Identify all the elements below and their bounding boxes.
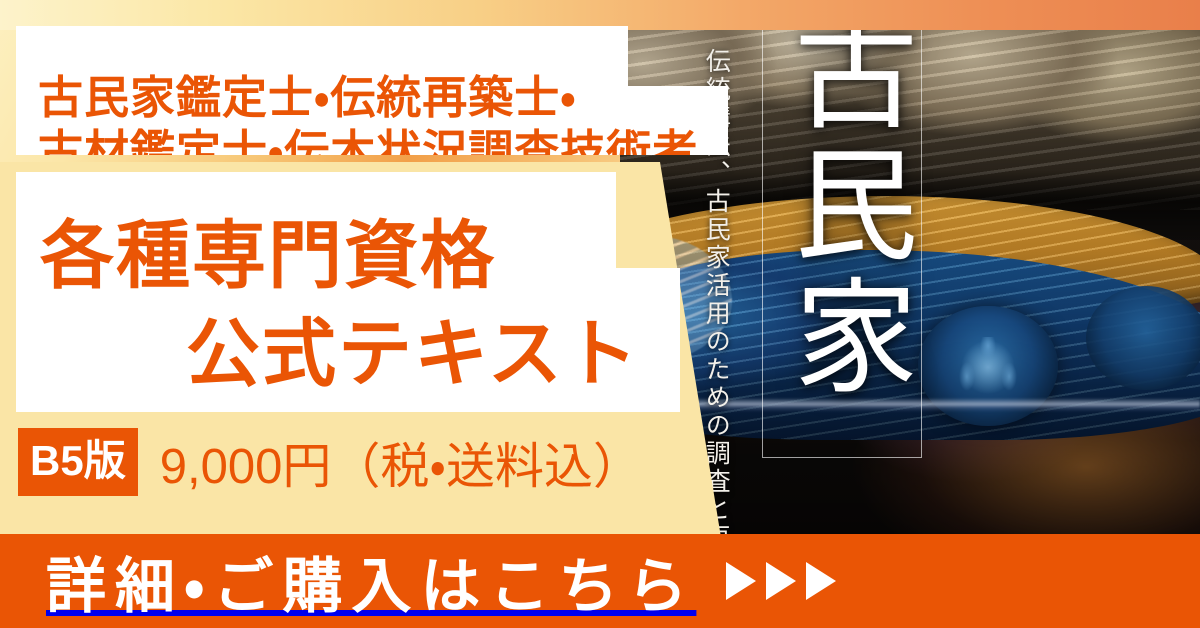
book-cover-title: 古民家 [772,8,912,438]
warm-gradient-top-strip [0,0,1200,30]
cta-label: 詳細・ご購入はこちら [46,538,696,625]
triangle-right-icon [806,562,836,600]
headline-panel: 古民家鑑定士・伝統再築士・ 古材鑑定士・伝木状況調査技術者 [16,26,728,155]
claim-line-2: 公式テキスト [186,294,640,401]
size-badge: B5版 [18,428,138,496]
triangle-right-icon [726,562,756,600]
cta-arrow-group [726,562,836,600]
triangle-right-icon [766,562,796,600]
promo-banner: 伝統構法、古民家活用のための調査と再生の 古民家 古民家鑑定士・伝統再築士・ 古… [0,0,1200,628]
price-amount: 9,000円（税・送料込） [160,427,642,498]
cta-bar[interactable]: 詳細・ご購入はこちら [0,534,1200,628]
price-row: B5版 9,000円（税・送料込） [18,428,642,496]
claim-line-1: 各種専門資格 [40,196,496,303]
claim-panel: 各種専門資格 公式テキスト [16,172,680,412]
